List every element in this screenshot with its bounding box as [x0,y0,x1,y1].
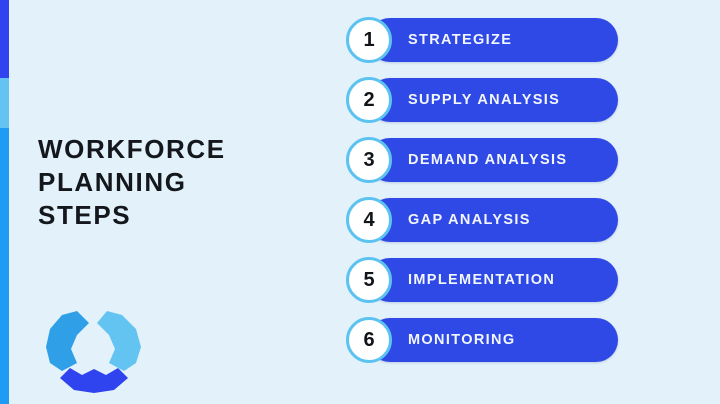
page-title: WORKFORCE PLANNING STEPS [38,133,308,232]
logo-center-circle [77,332,111,366]
list-item[interactable]: STRATEGIZE 1 [346,18,618,62]
page-title-line-2: PLANNING [38,166,308,199]
step-number-badge: 5 [346,257,392,303]
list-item[interactable]: DEMAND ANALYSIS 3 [346,138,618,182]
step-number-badge: 2 [346,77,392,123]
step-number-badge: 6 [346,317,392,363]
edge-stripe-azure-segment [0,128,9,404]
list-item[interactable]: SUPPLY ANALYSIS 2 [346,78,618,122]
page-title-line-1: WORKFORCE [38,133,308,166]
step-label: IMPLEMENTATION [408,258,555,302]
list-item[interactable]: IMPLEMENTATION 5 [346,258,618,302]
workforce-planning-steps-slide: WORKFORCE PLANNING STEPS STRATEGIZE 1 SU… [0,0,720,404]
list-item[interactable]: GAP ANALYSIS 4 [346,198,618,242]
step-label: GAP ANALYSIS [408,198,531,242]
step-label: MONITORING [408,318,515,362]
step-label: SUPPLY ANALYSIS [408,78,560,122]
list-item[interactable]: MONITORING 6 [346,318,618,362]
edge-stripe-sky-segment [0,78,9,128]
step-number-badge: 1 [346,17,392,63]
page-title-line-3: STEPS [38,199,308,232]
step-number-badge: 4 [346,197,392,243]
steps-list: STRATEGIZE 1 SUPPLY ANALYSIS 2 DEMAND AN… [346,18,618,362]
logo-bottom-arc [60,368,128,393]
edge-stripe-indigo-segment [0,0,9,78]
step-label: DEMAND ANALYSIS [408,138,567,182]
step-label: STRATEGIZE [408,18,512,62]
three-arc-circle-logo [44,305,144,393]
step-number-badge: 3 [346,137,392,183]
